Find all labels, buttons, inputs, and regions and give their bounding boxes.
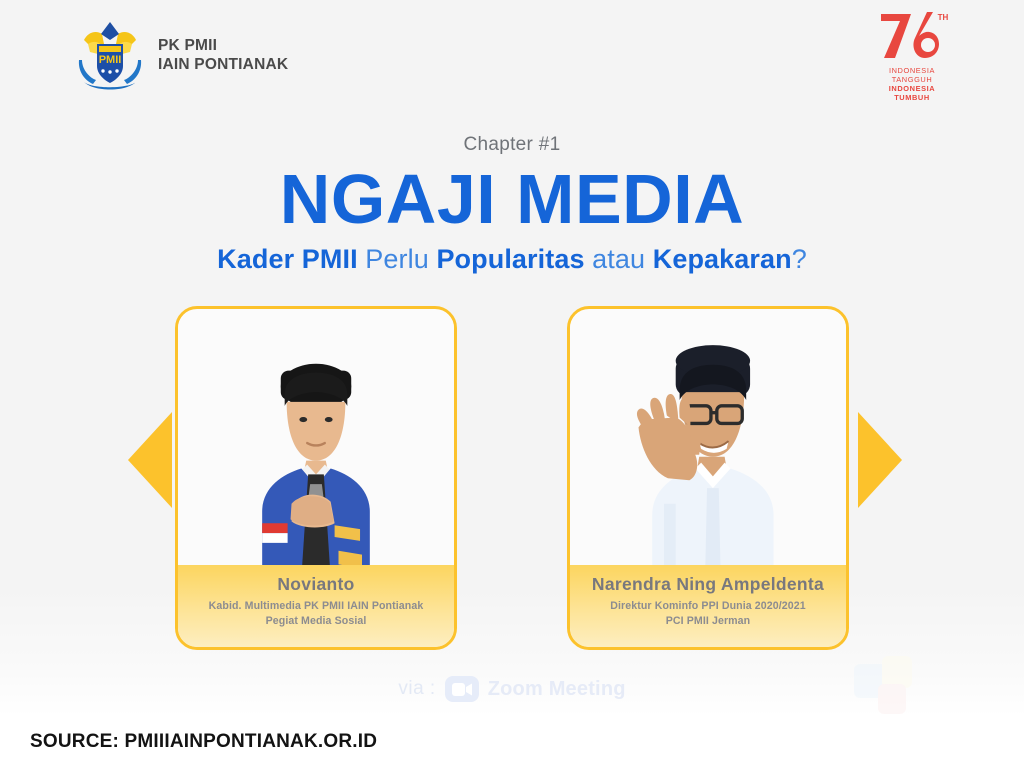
brand-lockup: PMII PK PMII IAIN PONTIANAK bbox=[74, 14, 288, 94]
speaker-card: Novianto Kabid. Multimedia PK PMII IAIN … bbox=[175, 306, 457, 650]
subtitle-part-2: Popularitas bbox=[436, 244, 584, 274]
svg-text:PMII: PMII bbox=[99, 54, 122, 66]
chapter-label: Chapter #1 bbox=[0, 134, 1024, 156]
subtitle-part-4: Kepakaran bbox=[653, 244, 792, 274]
source-bar: SOURCE: PMIIIAINPONTIANAK.OR.ID bbox=[0, 716, 1024, 768]
speaker-name: Narendra Ning Ampeldenta bbox=[570, 574, 846, 595]
anniversary-badge: TH INDONESIA TANGGUH INDONESIA TUMBUH bbox=[858, 8, 966, 102]
speaker-card-list: Novianto Kabid. Multimedia PK PMII IAIN … bbox=[0, 306, 1024, 650]
watermark-square-red bbox=[878, 684, 906, 714]
subtitle-part-0: Kader PMII bbox=[217, 244, 358, 274]
subtitle-part-3: atau bbox=[585, 244, 653, 274]
speaker-role-line-2: PCI PMII Jerman bbox=[570, 614, 846, 629]
brand-line-1: PK PMII bbox=[158, 36, 288, 55]
speaker-photo-novianto-icon bbox=[178, 309, 454, 581]
brand-text: PK PMII IAIN PONTIANAK bbox=[158, 34, 288, 74]
speaker-name: Novianto bbox=[178, 574, 454, 595]
source-text: SOURCE: PMIIIAINPONTIANAK.OR.ID bbox=[30, 731, 377, 753]
anniversary-tagline: INDONESIA TANGGUH INDONESIA TUMBUH bbox=[889, 66, 935, 102]
indonesia-76th-logo-icon: TH bbox=[875, 8, 949, 62]
subtitle-part-1: Perlu bbox=[358, 244, 437, 274]
zoom-camera-icon bbox=[445, 676, 479, 702]
speaker-photo-narendra-icon bbox=[570, 309, 846, 581]
speaker-card: Narendra Ning Ampeldenta Direktur Kominf… bbox=[567, 306, 849, 650]
subtitle: Kader PMII Perlu Popularitas atau Kepaka… bbox=[0, 244, 1024, 275]
via-label: via : bbox=[398, 678, 435, 700]
anniversary-tagline-3: INDONESIA bbox=[889, 84, 935, 93]
poster-screenshot: PMII PK PMII IAIN PONTIANAK bbox=[0, 0, 1024, 768]
anniversary-tagline-4: TUMBUH bbox=[889, 93, 935, 102]
speaker-role: Kabid. Multimedia PK PMII IAIN Pontianak… bbox=[178, 599, 454, 629]
title-block: Chapter #1 NGAJI MEDIA Kader PMII Perlu … bbox=[0, 134, 1024, 275]
svg-text:TH: TH bbox=[938, 13, 949, 22]
page-title: NGAJI MEDIA bbox=[0, 164, 1024, 235]
speaker-caption: Novianto Kabid. Multimedia PK PMII IAIN … bbox=[178, 565, 454, 647]
overlapping-squares-watermark-icon bbox=[854, 650, 950, 716]
speaker-caption: Narendra Ning Ampeldenta Direktur Kominf… bbox=[570, 565, 846, 647]
subtitle-part-5: ? bbox=[792, 244, 807, 274]
speaker-role-line-2: Pegiat Media Sosial bbox=[178, 614, 454, 629]
speaker-role: Direktur Kominfo PPI Dunia 2020/2021 PCI… bbox=[570, 599, 846, 629]
anniversary-tagline-1: INDONESIA bbox=[889, 66, 935, 75]
anniversary-tagline-2: TANGGUH bbox=[889, 75, 935, 84]
brand-line-2: IAIN PONTIANAK bbox=[158, 55, 288, 74]
platform-name: Zoom Meeting bbox=[488, 678, 626, 701]
speaker-role-line-1: Direktur Kominfo PPI Dunia 2020/2021 bbox=[570, 599, 846, 614]
speaker-role-line-1: Kabid. Multimedia PK PMII IAIN Pontianak bbox=[178, 599, 454, 614]
poster-canvas: PMII PK PMII IAIN PONTIANAK bbox=[0, 0, 1024, 716]
pmii-shield-logo-icon: PMII bbox=[74, 14, 146, 94]
